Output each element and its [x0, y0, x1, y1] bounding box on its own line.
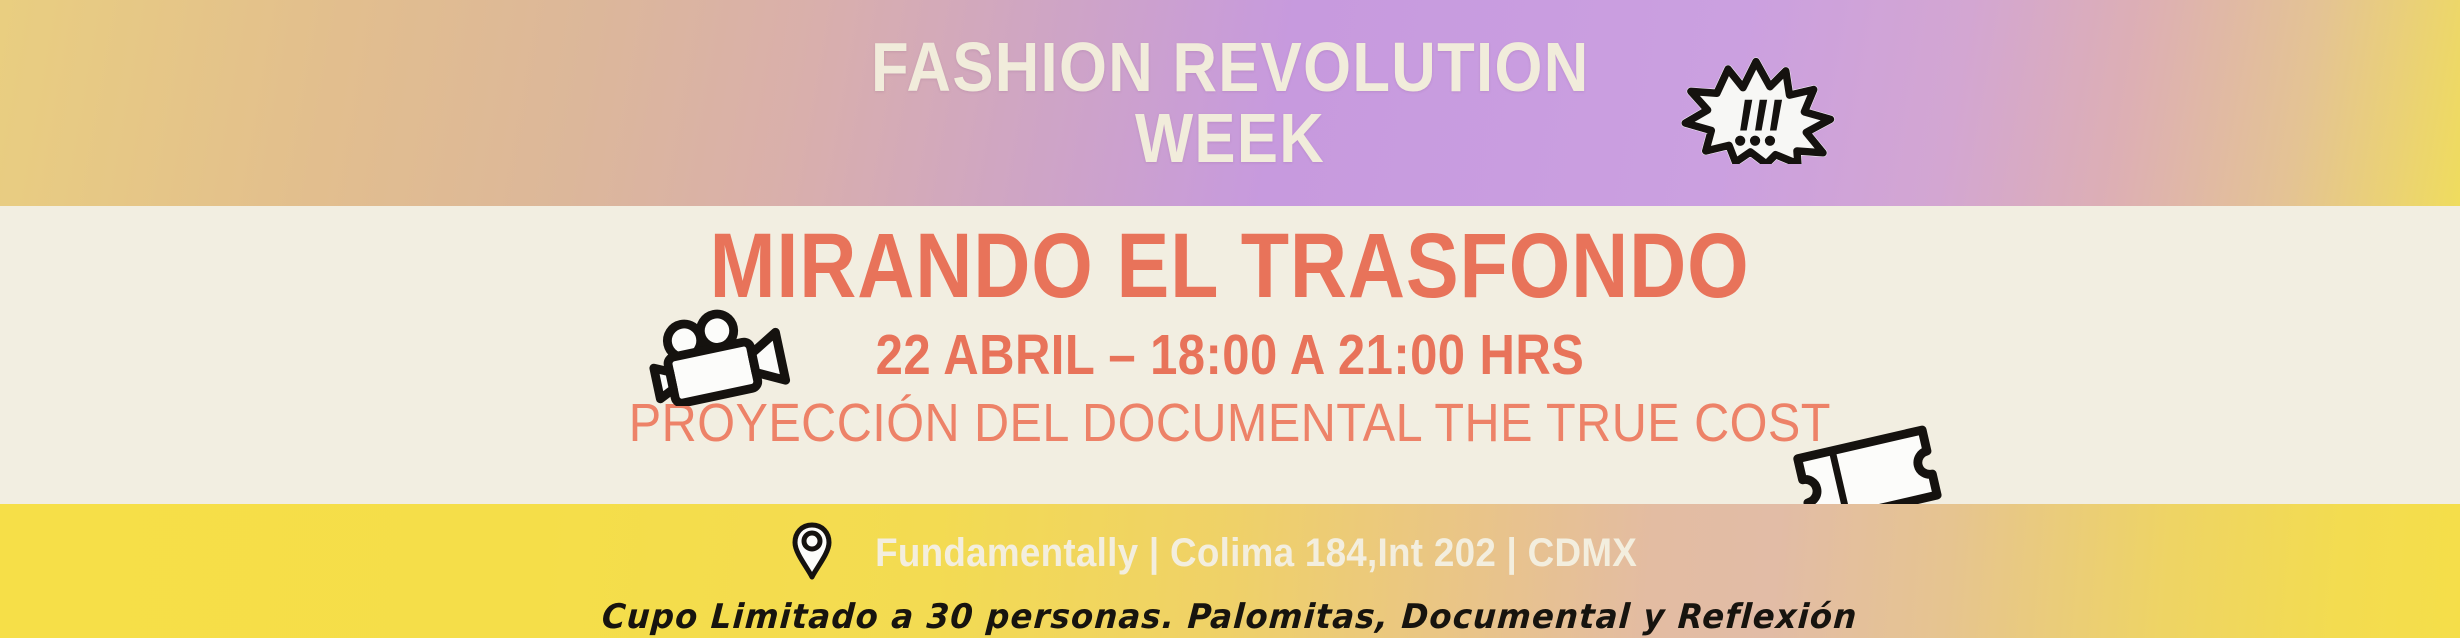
event-datetime: 22 ABRIL – 18:00 A 21:00 HRS [876, 326, 1585, 384]
location-pin-icon [790, 520, 834, 582]
header-title-line-1: FASHION REVOLUTION [871, 33, 1590, 102]
event-title: MIRANDO EL TRASFONDO [710, 220, 1750, 314]
event-banner: FASHION REVOLUTION WEEK MIRANDO EL TRASF… [0, 0, 2460, 638]
footer-note: Cupo Limitado a 30 personas. Palomitas, … [601, 600, 1859, 634]
event-documentary-line: PROYECCIÓN DEL DOCUMENTAL THE TRUE COST [629, 396, 1831, 451]
movie-camera-sticker [640, 308, 792, 406]
venue-address: Fundamentally | Colima 184,Int 202 | CDM… [875, 533, 1637, 573]
footer-text-block: Fundamentally | Colima 184,Int 202 | CDM… [0, 504, 2460, 638]
header-title-line-2: WEEK [1135, 104, 1325, 173]
middle-text-block: MIRANDO EL TRASFONDO 22 ABRIL – 18:00 A … [0, 206, 2460, 504]
header-text-block: FASHION REVOLUTION WEEK [0, 0, 2460, 206]
exclamation-burst-sticker [1672, 56, 1840, 164]
venue-row: Fundamentally | Colima 184,Int 202 | CDM… [790, 524, 1670, 582]
